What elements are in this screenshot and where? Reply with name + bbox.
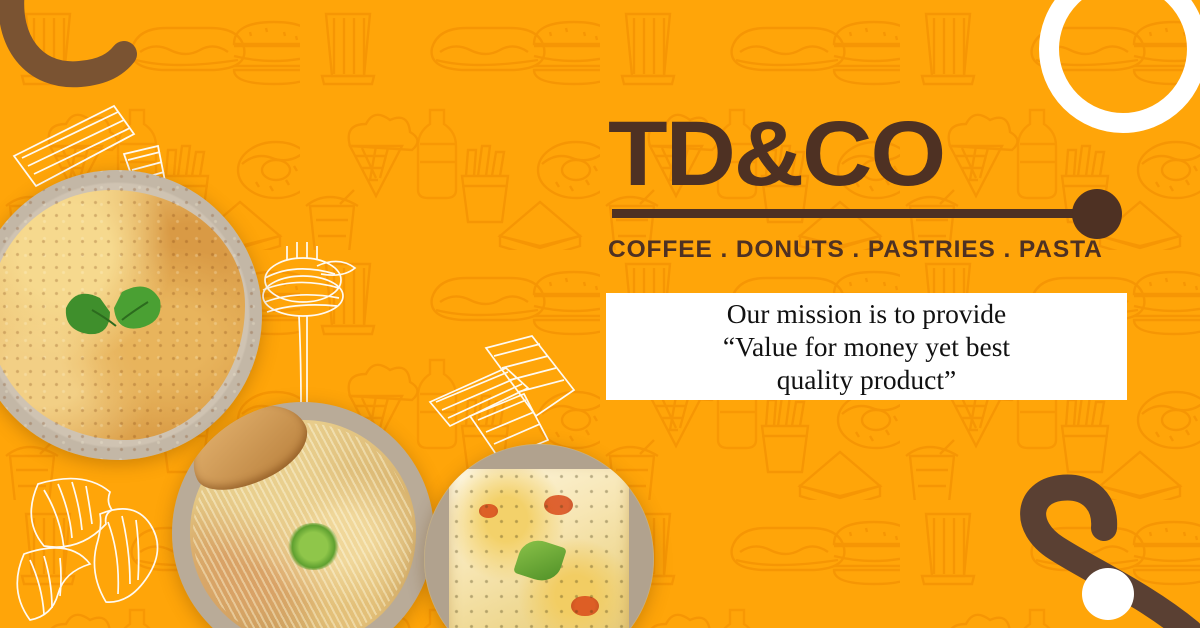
logo-wordmark: TD&CO <box>608 112 1138 198</box>
white-dot-shape <box>1082 568 1134 620</box>
mission-statement-text: Our mission is to provide “Value for mon… <box>723 297 1010 396</box>
logo-dot-icon <box>1072 189 1122 239</box>
brown-swoosh-shape <box>994 444 1200 628</box>
fork-spaghetti-sketch <box>255 238 375 418</box>
logo-tagline: COFFEE . DONUTS . PASTRIES . PASTA <box>608 236 1108 264</box>
logo-rule-row <box>608 204 1098 222</box>
mission-statement-panel: Our mission is to provide “Value for mon… <box>606 293 1127 400</box>
logo-rule <box>612 209 1090 218</box>
penne-sketch <box>420 330 590 465</box>
photo-lasagna <box>424 444 654 628</box>
penne-basil-garnish <box>0 170 262 460</box>
promo-banner: TD&CO COFFEE . DONUTS . PASTRIES . PASTA… <box>0 0 1200 628</box>
photo-seafood-pasta <box>172 402 434 628</box>
photo-penne-bake <box>0 170 262 460</box>
brown-hook-shape <box>0 0 144 100</box>
parsley-garnish <box>287 523 339 570</box>
brand-logo: TD&CO COFFEE . DONUTS . PASTRIES . PASTA <box>608 112 1108 264</box>
